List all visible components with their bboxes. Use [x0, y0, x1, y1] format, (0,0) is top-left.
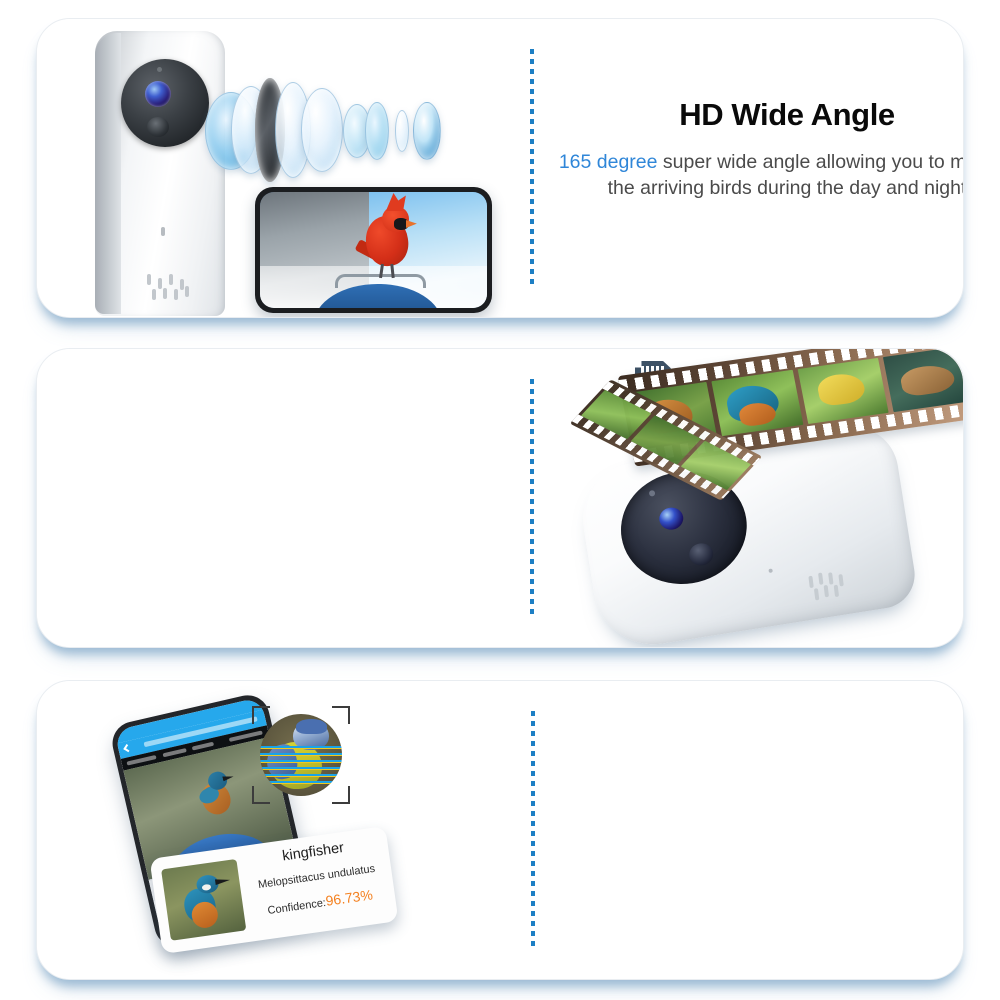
bird-scan-target	[252, 706, 350, 804]
doorbell-camera-illustration	[37, 19, 530, 317]
doorbell-side-panel	[95, 33, 121, 314]
back-arrow-icon[interactable]	[123, 744, 131, 752]
phone-screen	[260, 192, 487, 308]
film-bird-3	[815, 371, 866, 407]
film-frame-4	[883, 349, 963, 412]
cardinal-leg-right	[390, 264, 394, 278]
app-video-kingfisher	[192, 765, 241, 824]
film-frame-2	[711, 370, 803, 436]
feature-card-hd-wide-angle: HD Wide Angle 165 degree super wide angl…	[36, 18, 964, 318]
panel-2-dotted-divider	[530, 379, 534, 617]
feature-card-playback-function: Playback Fuction Insert a TF card/cloud …	[36, 348, 964, 648]
scan-bracket-bottom-right-icon	[332, 786, 350, 804]
bird-confidence: Confidence:96.73%	[253, 884, 388, 918]
bird-id-thumbnail	[161, 859, 246, 941]
confidence-value: 96.73%	[325, 886, 374, 908]
scan-bracket-top-right-icon	[332, 706, 350, 724]
doorbell-mic-dot-icon	[157, 67, 162, 72]
exploded-lens-stack	[197, 74, 447, 186]
panel-1-text-block: HD Wide Angle 165 degree super wide angl…	[557, 97, 963, 201]
panel-1-body-text: super wide angle allowing you to monitor…	[608, 151, 963, 199]
lens-element-8	[413, 102, 441, 160]
doorbell-lens	[145, 81, 171, 107]
bird-id-text-block: kingfisher Melopsittacus undulatus Confi…	[246, 835, 388, 919]
scan-bracket-top-left-icon	[252, 706, 270, 724]
panel-1-accent-text: 165 degree	[559, 151, 658, 173]
scan-lines-overlay	[260, 746, 342, 784]
panel-1-body: 165 degree super wide angle allowing you…	[557, 150, 963, 202]
lens-element-6	[365, 102, 389, 160]
panel-1-title: HD Wide Angle	[557, 97, 963, 134]
scan-circle-image	[260, 714, 342, 796]
lens-element-7	[395, 110, 409, 152]
film-bird-4	[899, 362, 956, 397]
kingfisher-thumbnail-art	[174, 867, 236, 933]
film-frame-3	[797, 358, 889, 424]
cardinal-leg-left	[379, 264, 384, 278]
confidence-label: Confidence:	[267, 897, 327, 917]
doorbell-pir-sensor	[147, 117, 169, 137]
feature-panels-page: HD Wide Angle 165 degree super wide angl…	[0, 0, 1000, 1000]
card-2-inner: Playback Fuction Insert a TF card/cloud …	[37, 349, 963, 647]
doorbell-speaker-grille	[147, 274, 193, 300]
playback-illustration	[537, 349, 963, 647]
doorbell-indicator-icon	[161, 227, 165, 236]
panel-1-dotted-divider	[530, 49, 534, 287]
blue-tit-cap	[296, 719, 327, 734]
cardinal-bird	[360, 198, 418, 282]
lens-element-4	[301, 88, 343, 172]
panel-3-dotted-divider	[531, 711, 535, 949]
card-1-inner: HD Wide Angle 165 degree super wide angl…	[37, 19, 963, 317]
feeder-camera-speaker-grille	[808, 569, 851, 600]
cardinal-beak	[406, 220, 417, 228]
scan-bracket-bottom-left-icon	[252, 786, 270, 804]
phone-preview-cardinal	[255, 187, 492, 313]
